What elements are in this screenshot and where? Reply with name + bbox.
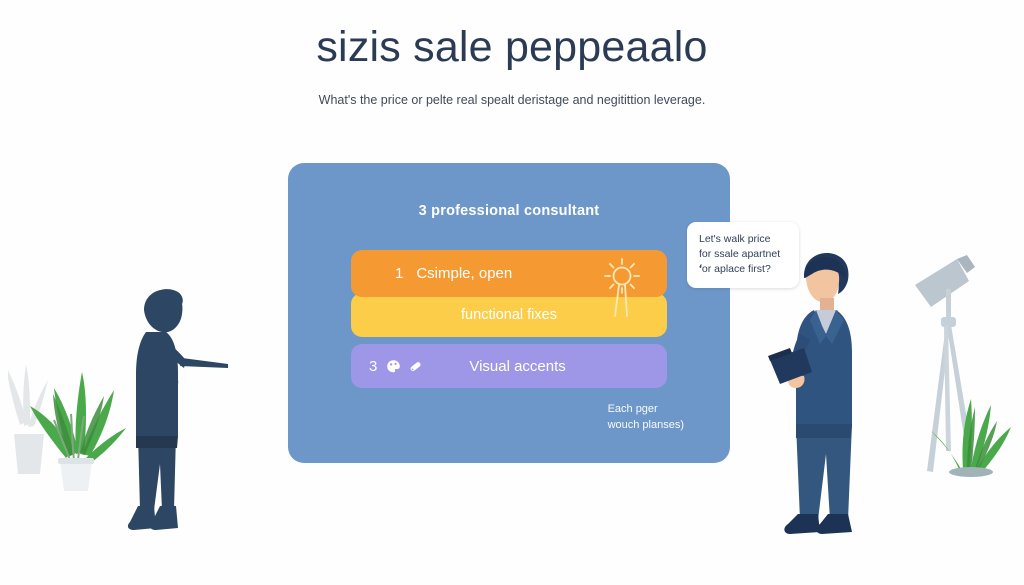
- row-1-label: Csimple, open: [416, 265, 512, 282]
- row-list: 1 Csimple, open fu: [351, 250, 667, 388]
- potted-leaf-plant-icon: [8, 330, 128, 510]
- list-item-row-3[interactable]: 3 Visual accents: [351, 344, 667, 388]
- page-subtitle: What's the price or pelte real spealt de…: [0, 92, 1024, 108]
- speech-bubble-line-1: Let's walk price: [699, 232, 789, 247]
- card-caption-line-2: wouch planses): [608, 418, 684, 434]
- main-card: 3 professional consultant 1 Csimple, ope…: [288, 163, 730, 463]
- businessman-with-tablet-icon: [768, 248, 888, 548]
- row-1-number: 1: [395, 265, 403, 282]
- palette-icon: [386, 359, 401, 374]
- card-title: 3 professional consultant: [288, 203, 730, 219]
- list-item-row-2[interactable]: functional fixes: [351, 293, 667, 337]
- row-2-label: functional fixes: [461, 307, 557, 323]
- person-with-tablet-silhouette-icon: [118, 288, 238, 550]
- card-caption-line-1: Each pger: [608, 402, 684, 418]
- row-3-number: 3: [369, 358, 377, 375]
- speech-bubble-tail: [690, 268, 701, 277]
- row-3-icon-group: [386, 359, 423, 374]
- tag-icon: [408, 359, 423, 374]
- page-title: sizis sale peppeaalo: [0, 22, 1024, 74]
- list-item-row-1[interactable]: 1 Csimple, open: [351, 250, 667, 297]
- row-3-label: Visual accents: [469, 358, 565, 375]
- card-caption: Each pger wouch planses): [608, 402, 684, 434]
- tripod-floor-lamp-icon: [905, 255, 1023, 515]
